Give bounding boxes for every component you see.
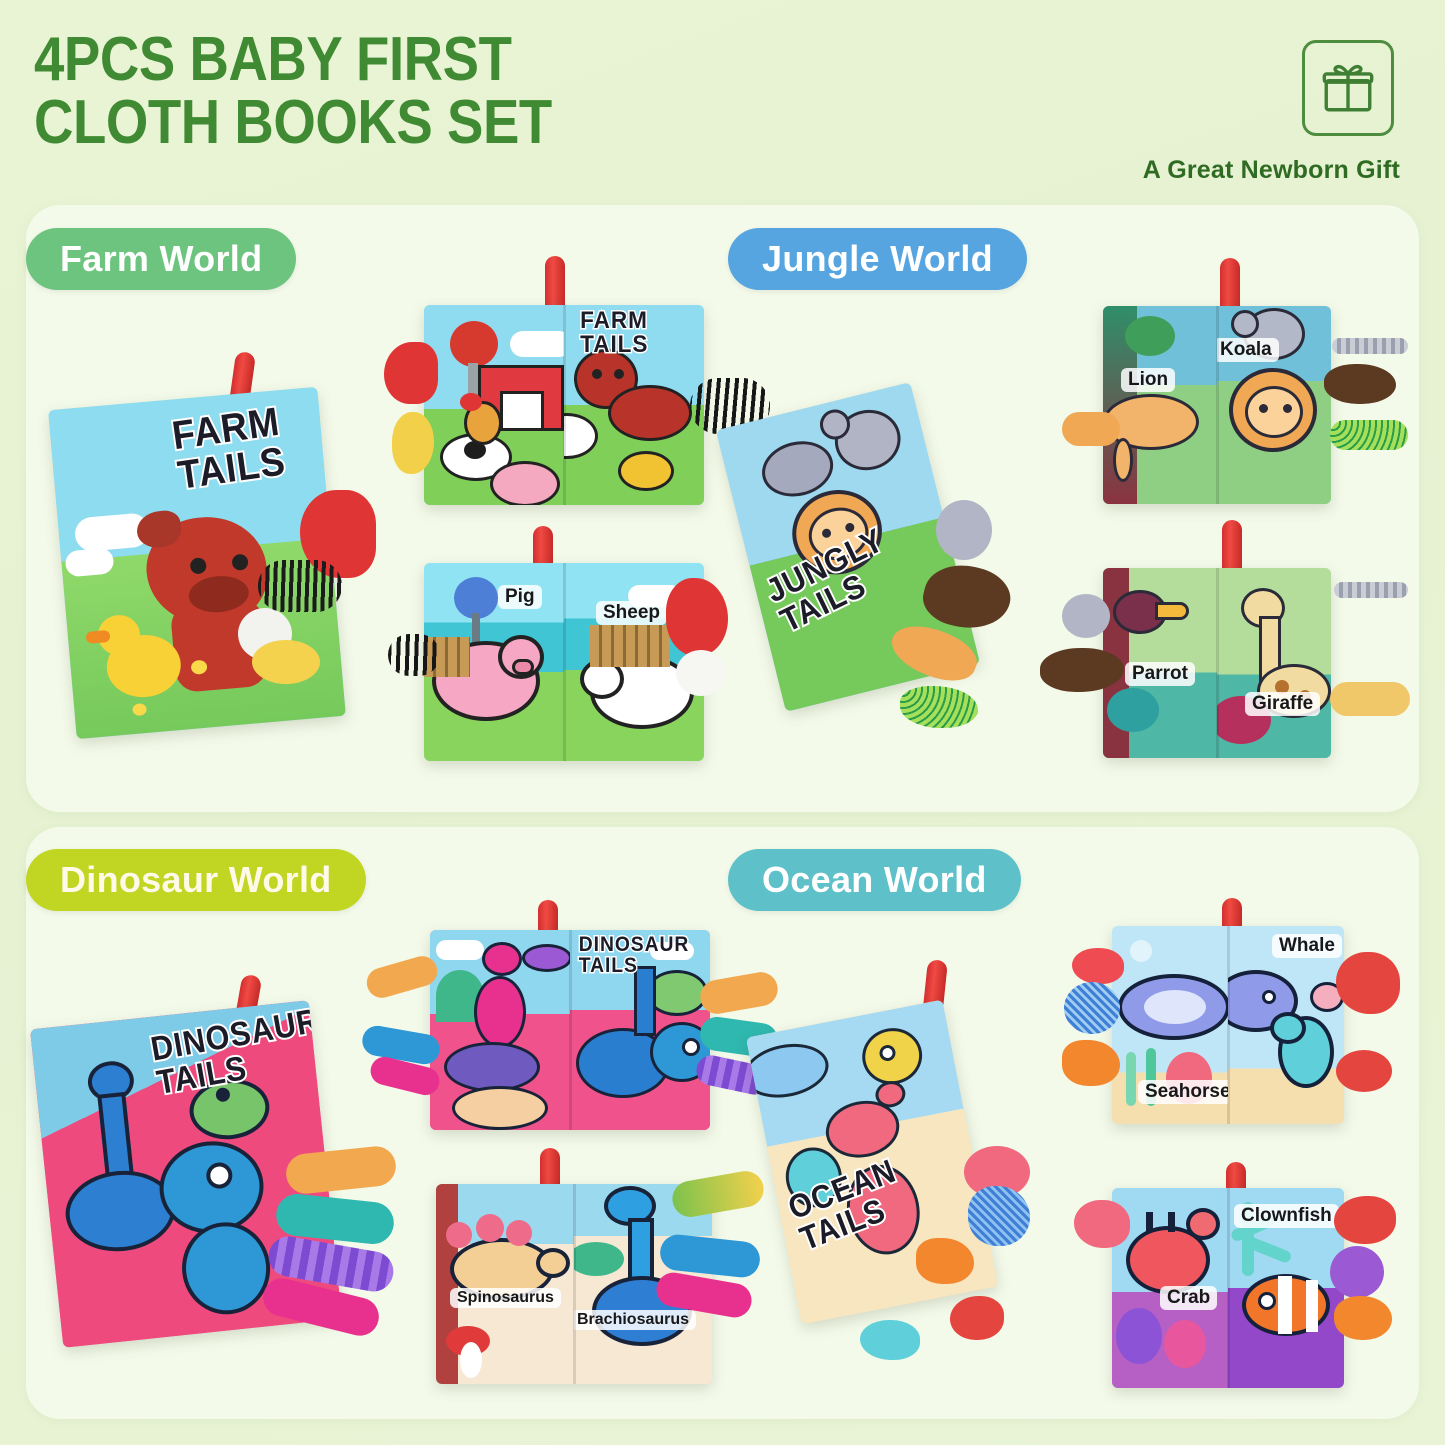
jungle-spread-top-tail-rope xyxy=(1332,338,1408,354)
ocean-spread-top-tail-mesh-left xyxy=(1064,982,1120,1034)
ocean-cover-tail-red xyxy=(950,1296,1004,1340)
gift-icon-wrapper xyxy=(1294,34,1402,142)
jungle-spread-bottom-tail-yellow xyxy=(1330,682,1410,716)
farm-spread-bottom-tail-white xyxy=(676,650,726,696)
label-seahorse: Seahorse xyxy=(1138,1080,1228,1104)
farm-spread-top: FARM TAILS xyxy=(424,305,704,505)
jungle-spread-bottom: Parrot Giraffe xyxy=(1103,568,1331,758)
jungle-spread-bottom-tail-grey xyxy=(1062,594,1110,638)
label-pig: Pig xyxy=(498,585,542,609)
label-sheep: Sheep xyxy=(596,601,667,625)
label-lion: Lion xyxy=(1121,368,1175,392)
ocean-cover-tail-blue-mesh xyxy=(968,1186,1030,1246)
gift-icon xyxy=(1302,40,1394,136)
ocean-spread-top-tail-red-right xyxy=(1336,952,1400,1014)
section-label-dinosaur-world: Dinosaur World xyxy=(26,849,366,911)
ocean-spread-top-tail-red-left xyxy=(1072,948,1124,984)
farm-spread-top-title: FARM TAILS xyxy=(580,309,648,357)
jungle-spread-top-tail-lion xyxy=(1062,412,1120,446)
farm-cover-tail-black xyxy=(258,560,342,612)
ocean-spread-bottom-tail-orange-right xyxy=(1334,1296,1392,1340)
label-whale: Whale xyxy=(1272,934,1342,958)
section-label-ocean-world: Ocean World xyxy=(728,849,1021,911)
jungle-cover-tail-grey xyxy=(936,500,992,560)
jungle-spread-top-tail-brown xyxy=(1324,364,1396,404)
label-giraffe: Giraffe xyxy=(1245,692,1320,716)
label-crab: Crab xyxy=(1160,1286,1217,1310)
ocean-spread-bottom-tail-red-right xyxy=(1334,1196,1396,1244)
header: 4PCS BABY FIRST CLOTH BOOKS SET A Great … xyxy=(34,28,1414,198)
ocean-spread-top-tail-red2-right xyxy=(1336,1050,1392,1092)
dinosaur-spread-top-title: DINOSAUR TAILS xyxy=(579,934,689,976)
ocean-cover-tail-orange xyxy=(916,1238,974,1284)
product-infographic: 4PCS BABY FIRST CLOTH BOOKS SET A Great … xyxy=(0,0,1445,1445)
section-label-jungle-world: Jungle World xyxy=(728,228,1027,290)
page-title: 4PCS BABY FIRST CLOTH BOOKS SET xyxy=(34,28,1248,154)
jungle-spread-bottom-tail-rope xyxy=(1334,582,1408,598)
label-brachiosaurus: Brachiosaurus xyxy=(574,1310,696,1330)
jungle-spread-top-tail-green xyxy=(1330,420,1408,450)
ocean-spread-top: Seahorse Whale xyxy=(1112,926,1344,1124)
farm-cover-title: FARM TAILS xyxy=(170,402,288,496)
farm-spread-bottom: Pig Sheep xyxy=(424,563,704,761)
farm-spread-bottom-tail-black xyxy=(388,634,440,676)
dinosaur-spread-top: DINOSAUR TAILS xyxy=(430,930,710,1130)
section-label-farm-world: Farm World xyxy=(26,228,296,290)
gift-subtitle: A Great Newborn Gift xyxy=(1143,156,1400,185)
jungle-spread-top: Lion Koala xyxy=(1103,306,1331,504)
farm-spread-top-tail-red xyxy=(384,342,438,404)
ocean-spread-bottom-tail-purple-right xyxy=(1330,1246,1384,1298)
label-parrot: Parrot xyxy=(1125,662,1195,686)
farm-cover-tail-yellow xyxy=(252,640,320,684)
label-spinosaurus: Spinosaurus xyxy=(450,1288,561,1308)
label-koala: Koala xyxy=(1217,338,1279,362)
farm-spread-bottom-tail-red xyxy=(666,578,728,656)
ocean-spread-bottom: Crab Clownfish xyxy=(1112,1188,1344,1388)
label-clownfish: Clownfish xyxy=(1234,1204,1339,1228)
ocean-cover-tail-teal xyxy=(860,1320,920,1360)
ocean-spread-top-tail-orange-left xyxy=(1062,1040,1120,1086)
ocean-spread-bottom-tail-pink-left xyxy=(1074,1200,1130,1248)
